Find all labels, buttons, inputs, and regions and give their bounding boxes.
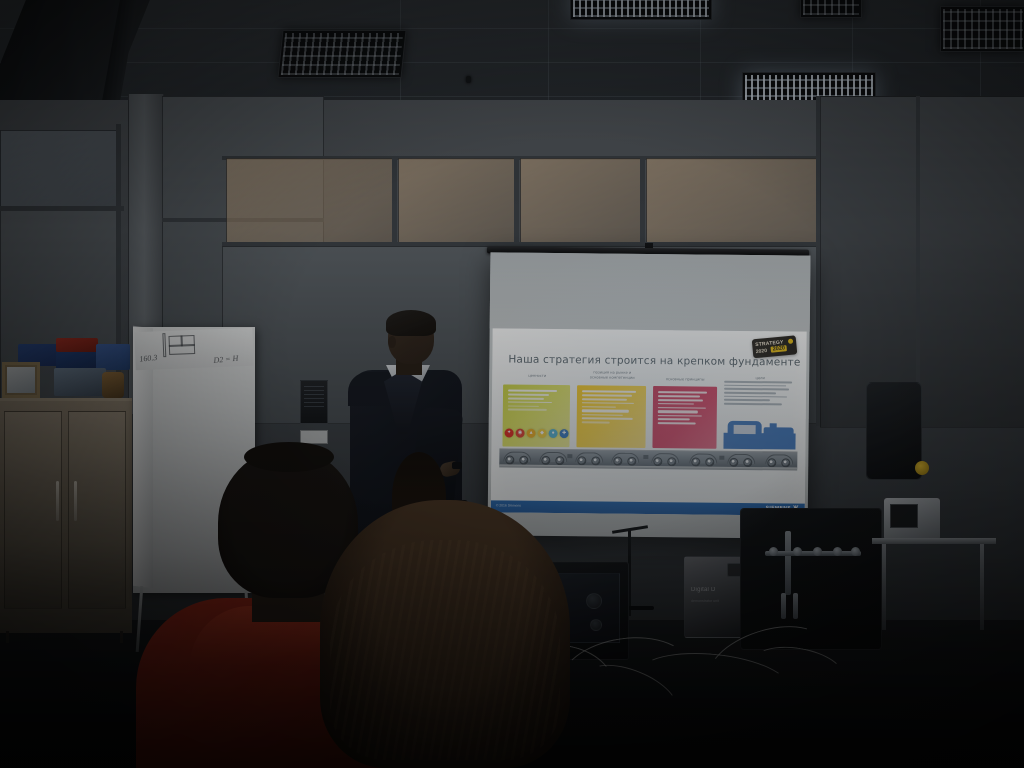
quality-icon: ◉: [516, 429, 525, 438]
misc-items: [54, 368, 106, 396]
ceiling-light-fixture-5: [800, 0, 862, 18]
responsibility-icon: ◆: [538, 429, 547, 438]
audience-hair-strands: [330, 540, 560, 760]
motor-indicator-light: [915, 461, 929, 475]
flipchart-note-1: 160.3: [139, 353, 158, 364]
presentation-clicker[interactable]: [452, 462, 462, 469]
beige-glass-panel-4: [646, 158, 824, 244]
presenter-hair: [386, 310, 436, 336]
valve-1[interactable]: [769, 547, 778, 556]
stacked-box-red: [56, 338, 98, 352]
glass-panel-left-upper: [0, 130, 120, 210]
bogie: [575, 452, 601, 465]
column-header-principles: основные принципы: [654, 377, 716, 383]
bogie: [651, 453, 677, 466]
side-table: [872, 538, 996, 544]
principles-panel: [652, 386, 717, 449]
oscilloscope[interactable]: [884, 498, 940, 540]
slide-title: Наша стратегия строится на крепком фунда…: [508, 354, 800, 369]
values-icon-row: ✦ ◉ ▲ ◆ ● ✚: [505, 428, 569, 438]
vertical-pipe: [785, 531, 791, 595]
beige-glass-panel-3: [520, 158, 644, 244]
ceiling-light-fixture-1: [277, 30, 406, 78]
case-label: Digital D: [691, 587, 715, 593]
flipchart-note-2: D2 = H: [213, 354, 239, 365]
stacked-box-blue-2: [96, 344, 130, 370]
excellence-icon: ●: [549, 429, 558, 438]
presentation-slide: STRATEGY 2020 2020 Наша стратегия строит…: [491, 328, 807, 515]
bogie: [765, 454, 791, 467]
ceiling-light-fixture-3: [570, 0, 712, 20]
valve-5[interactable]: [851, 547, 860, 556]
valve-2[interactable]: [793, 547, 802, 556]
bogie: [503, 451, 529, 464]
bogie: [539, 452, 565, 465]
badge-dot-icon: [788, 339, 793, 344]
goals-panel: [724, 381, 796, 408]
wall-control-panel[interactable]: [300, 380, 328, 424]
screen-blank-area: [490, 252, 811, 331]
storage-cabinet: [0, 398, 132, 633]
flipchart-top-sheet: 160.3 D2 = H: [134, 328, 253, 371]
badge-line-2: 2020: [756, 348, 768, 355]
sprinkler-head: [466, 76, 471, 83]
oscilloscope-display: [890, 504, 918, 528]
bogie: [611, 453, 637, 466]
motor-unit: [866, 382, 922, 480]
framed-photo: [2, 362, 40, 398]
case-sublabel: demonstrator unit: [691, 599, 719, 603]
beige-glass-panel-2: [398, 158, 518, 244]
beige-glass-panel-1: [226, 158, 396, 244]
badge-highlight: 2020: [770, 345, 787, 353]
column-header-values: ценности: [510, 374, 564, 380]
innovation-icon: ▲: [527, 429, 536, 438]
bogie: [689, 453, 715, 466]
market-panel: [576, 385, 646, 448]
audience-hair-tuft: [244, 442, 334, 472]
locomotive-silhouette: [723, 417, 795, 450]
strategy-badge: STRATEGY 2020 2020: [752, 335, 798, 358]
valve-3[interactable]: [813, 547, 822, 556]
decorative-figurine: [102, 372, 124, 398]
projection-screen: STRATEGY 2020 2020 Наша стратегия строит…: [488, 252, 811, 538]
bogie: [727, 454, 753, 467]
column-header-market: позиция на рынке и основные компетенции: [580, 370, 644, 381]
teamwork-icon: ✚: [560, 429, 569, 438]
valve-4[interactable]: [833, 547, 842, 556]
presenter-ear: [388, 336, 396, 348]
digital-demo-case[interactable]: Digital D demonstrator unit: [684, 556, 748, 638]
conference-room-scene: 160.3 D2 = H STRATEGY 2020 2020 Наша стр…: [0, 0, 1024, 768]
partition-far-right: [820, 96, 1024, 428]
audience-member-brown: [300, 500, 600, 768]
safety-icon: ✦: [505, 428, 514, 437]
ceiling-light-fixture-4: [940, 6, 1024, 52]
flipchart-sketch-box-3: [169, 344, 195, 355]
